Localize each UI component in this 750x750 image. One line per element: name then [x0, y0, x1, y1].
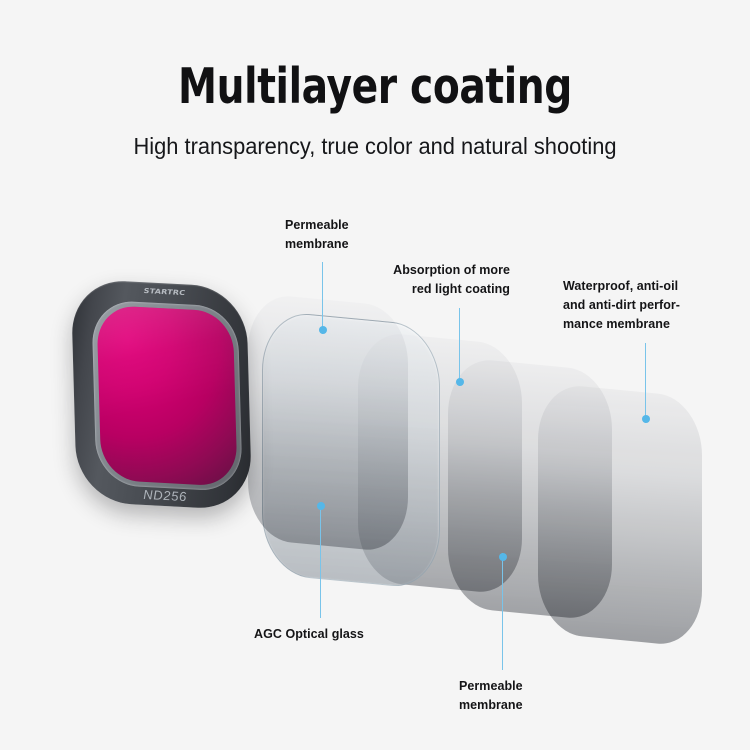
brand-logo: STARTRC — [123, 285, 206, 299]
filter-glass-sheen — [97, 305, 238, 488]
connector-dot — [642, 415, 650, 423]
filter-glass — [97, 305, 238, 488]
label-permeable-membrane-top: Permeable membrane — [285, 216, 349, 254]
label-line: AGC Optical glass — [254, 625, 364, 644]
page-title: Multilayer coating — [75, 58, 675, 115]
connector-line — [502, 553, 503, 670]
connector-line — [320, 502, 321, 618]
connector-line — [459, 308, 460, 386]
connector-dot — [317, 502, 325, 510]
label-line: membrane — [285, 235, 349, 254]
label-line: and anti-dirt perfor- — [563, 296, 680, 315]
label-line: red light coating — [330, 280, 510, 299]
connector-waterproof-membrane — [641, 343, 650, 423]
label-line: Permeable — [285, 216, 349, 235]
connector-dot — [499, 553, 507, 561]
label-line: Waterproof, anti-oil — [563, 277, 680, 296]
filter-model-label: ND256 — [143, 487, 242, 507]
label-agc-optical-glass: AGC Optical glass — [254, 625, 364, 644]
layer-permeable-membrane-front — [248, 292, 408, 553]
connector-dot — [319, 326, 327, 334]
filter-frame: STARTRC ND256 — [71, 278, 253, 510]
infographic-canvas: Multilayer coating High transparency, tr… — [0, 0, 750, 750]
connector-line — [322, 262, 323, 334]
label-line: Absorption of more — [330, 261, 510, 280]
connector-line — [645, 343, 646, 423]
label-line: Permeable — [459, 677, 523, 696]
connector-red-light-coating — [455, 308, 464, 386]
connector-dot — [456, 378, 464, 386]
connector-agc-optical-glass — [316, 502, 325, 618]
connector-permeable-membrane-top — [318, 262, 327, 334]
filter-bezel-ring — [91, 300, 243, 493]
connector-permeable-membrane-bottom — [498, 553, 507, 670]
page-subtitle: High transparency, true color and natura… — [19, 133, 732, 160]
label-permeable-membrane-bottom: Permeable membrane — [459, 677, 523, 715]
label-waterproof-membrane: Waterproof, anti-oil and anti-dirt perfo… — [563, 277, 680, 334]
label-line: mance membrane — [563, 315, 680, 334]
label-line: membrane — [459, 696, 523, 715]
nd-filter-product: STARTRC ND256 — [71, 278, 253, 510]
label-red-light-coating: Absorption of more red light coating — [330, 261, 510, 299]
